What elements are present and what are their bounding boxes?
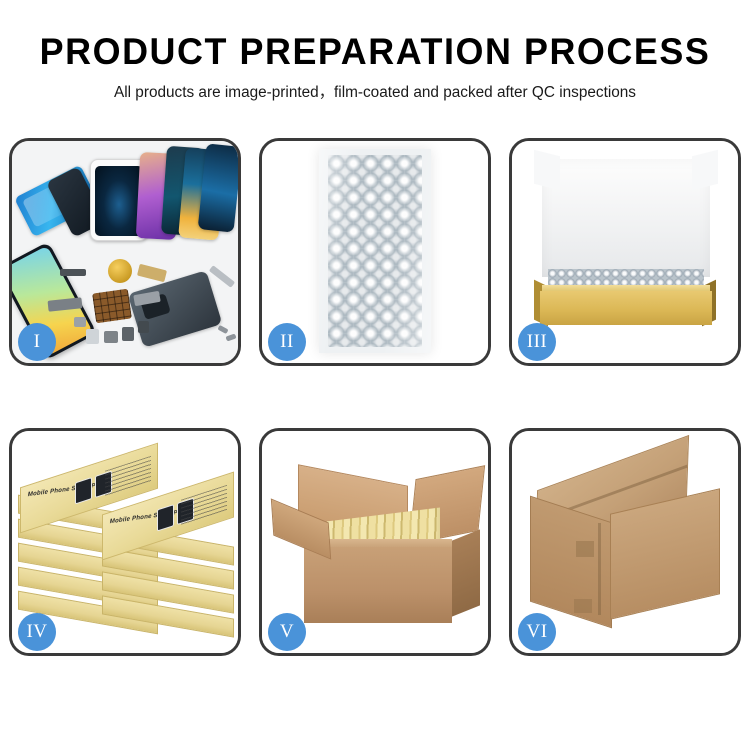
small-component-4	[138, 321, 149, 333]
box-screen-thumb-3	[157, 504, 174, 532]
page-subtitle: All products are image-printed，film-coat…	[4, 82, 747, 104]
sealed-carton-corner-seam	[598, 523, 601, 615]
carton-front-face	[304, 547, 452, 623]
process-step-panel-6: VI	[509, 428, 741, 656]
bubble-wrapped-product	[319, 149, 431, 353]
step-badge-5: V	[268, 613, 306, 651]
step-badge-3: III	[518, 323, 556, 361]
white-box-lid	[542, 159, 710, 277]
process-step-panel-3: III	[509, 138, 741, 366]
vibration-motor-part	[108, 259, 132, 283]
sealed-carton-tab-1	[576, 541, 594, 557]
screw-1	[217, 325, 228, 334]
page-header: PRODUCT PREPARATION PROCESS All products…	[0, 0, 750, 104]
chip-board-part	[92, 289, 132, 324]
small-component-3	[122, 327, 134, 341]
phone-back-housing	[128, 270, 223, 348]
sealed-carton-tab-2	[574, 599, 592, 613]
bubble-gloss-highlight	[319, 149, 431, 353]
small-component-1	[86, 329, 99, 344]
small-component-2	[104, 331, 118, 343]
step-badge-1: I	[18, 323, 56, 361]
page-title: PRODUCT PREPARATION PROCESS	[11, 30, 739, 74]
box-screen-thumb-1	[75, 477, 92, 505]
carton-side-face	[452, 529, 480, 616]
small-component-5	[74, 317, 86, 327]
screw-2	[225, 333, 236, 341]
step-badge-2: II	[268, 323, 306, 361]
process-step-panel-4: Mobile Phone Spare Parts Mobile Phone Sp…	[9, 428, 241, 656]
flex-cable-part-2	[137, 264, 167, 282]
box-spec-lines-front	[181, 485, 227, 526]
process-step-grid: I II III	[9, 138, 741, 656]
process-step-panel-5: V	[259, 428, 491, 656]
process-step-panel-2: II	[259, 138, 491, 366]
speaker-part	[60, 269, 86, 276]
kraft-box-front	[540, 291, 712, 325]
process-step-panel-1: I	[9, 138, 241, 366]
box-spec-lines-back	[105, 456, 151, 497]
step-badge-6: VI	[518, 613, 556, 651]
step-badge-4: IV	[18, 613, 56, 651]
tweezers-tool	[209, 265, 235, 288]
